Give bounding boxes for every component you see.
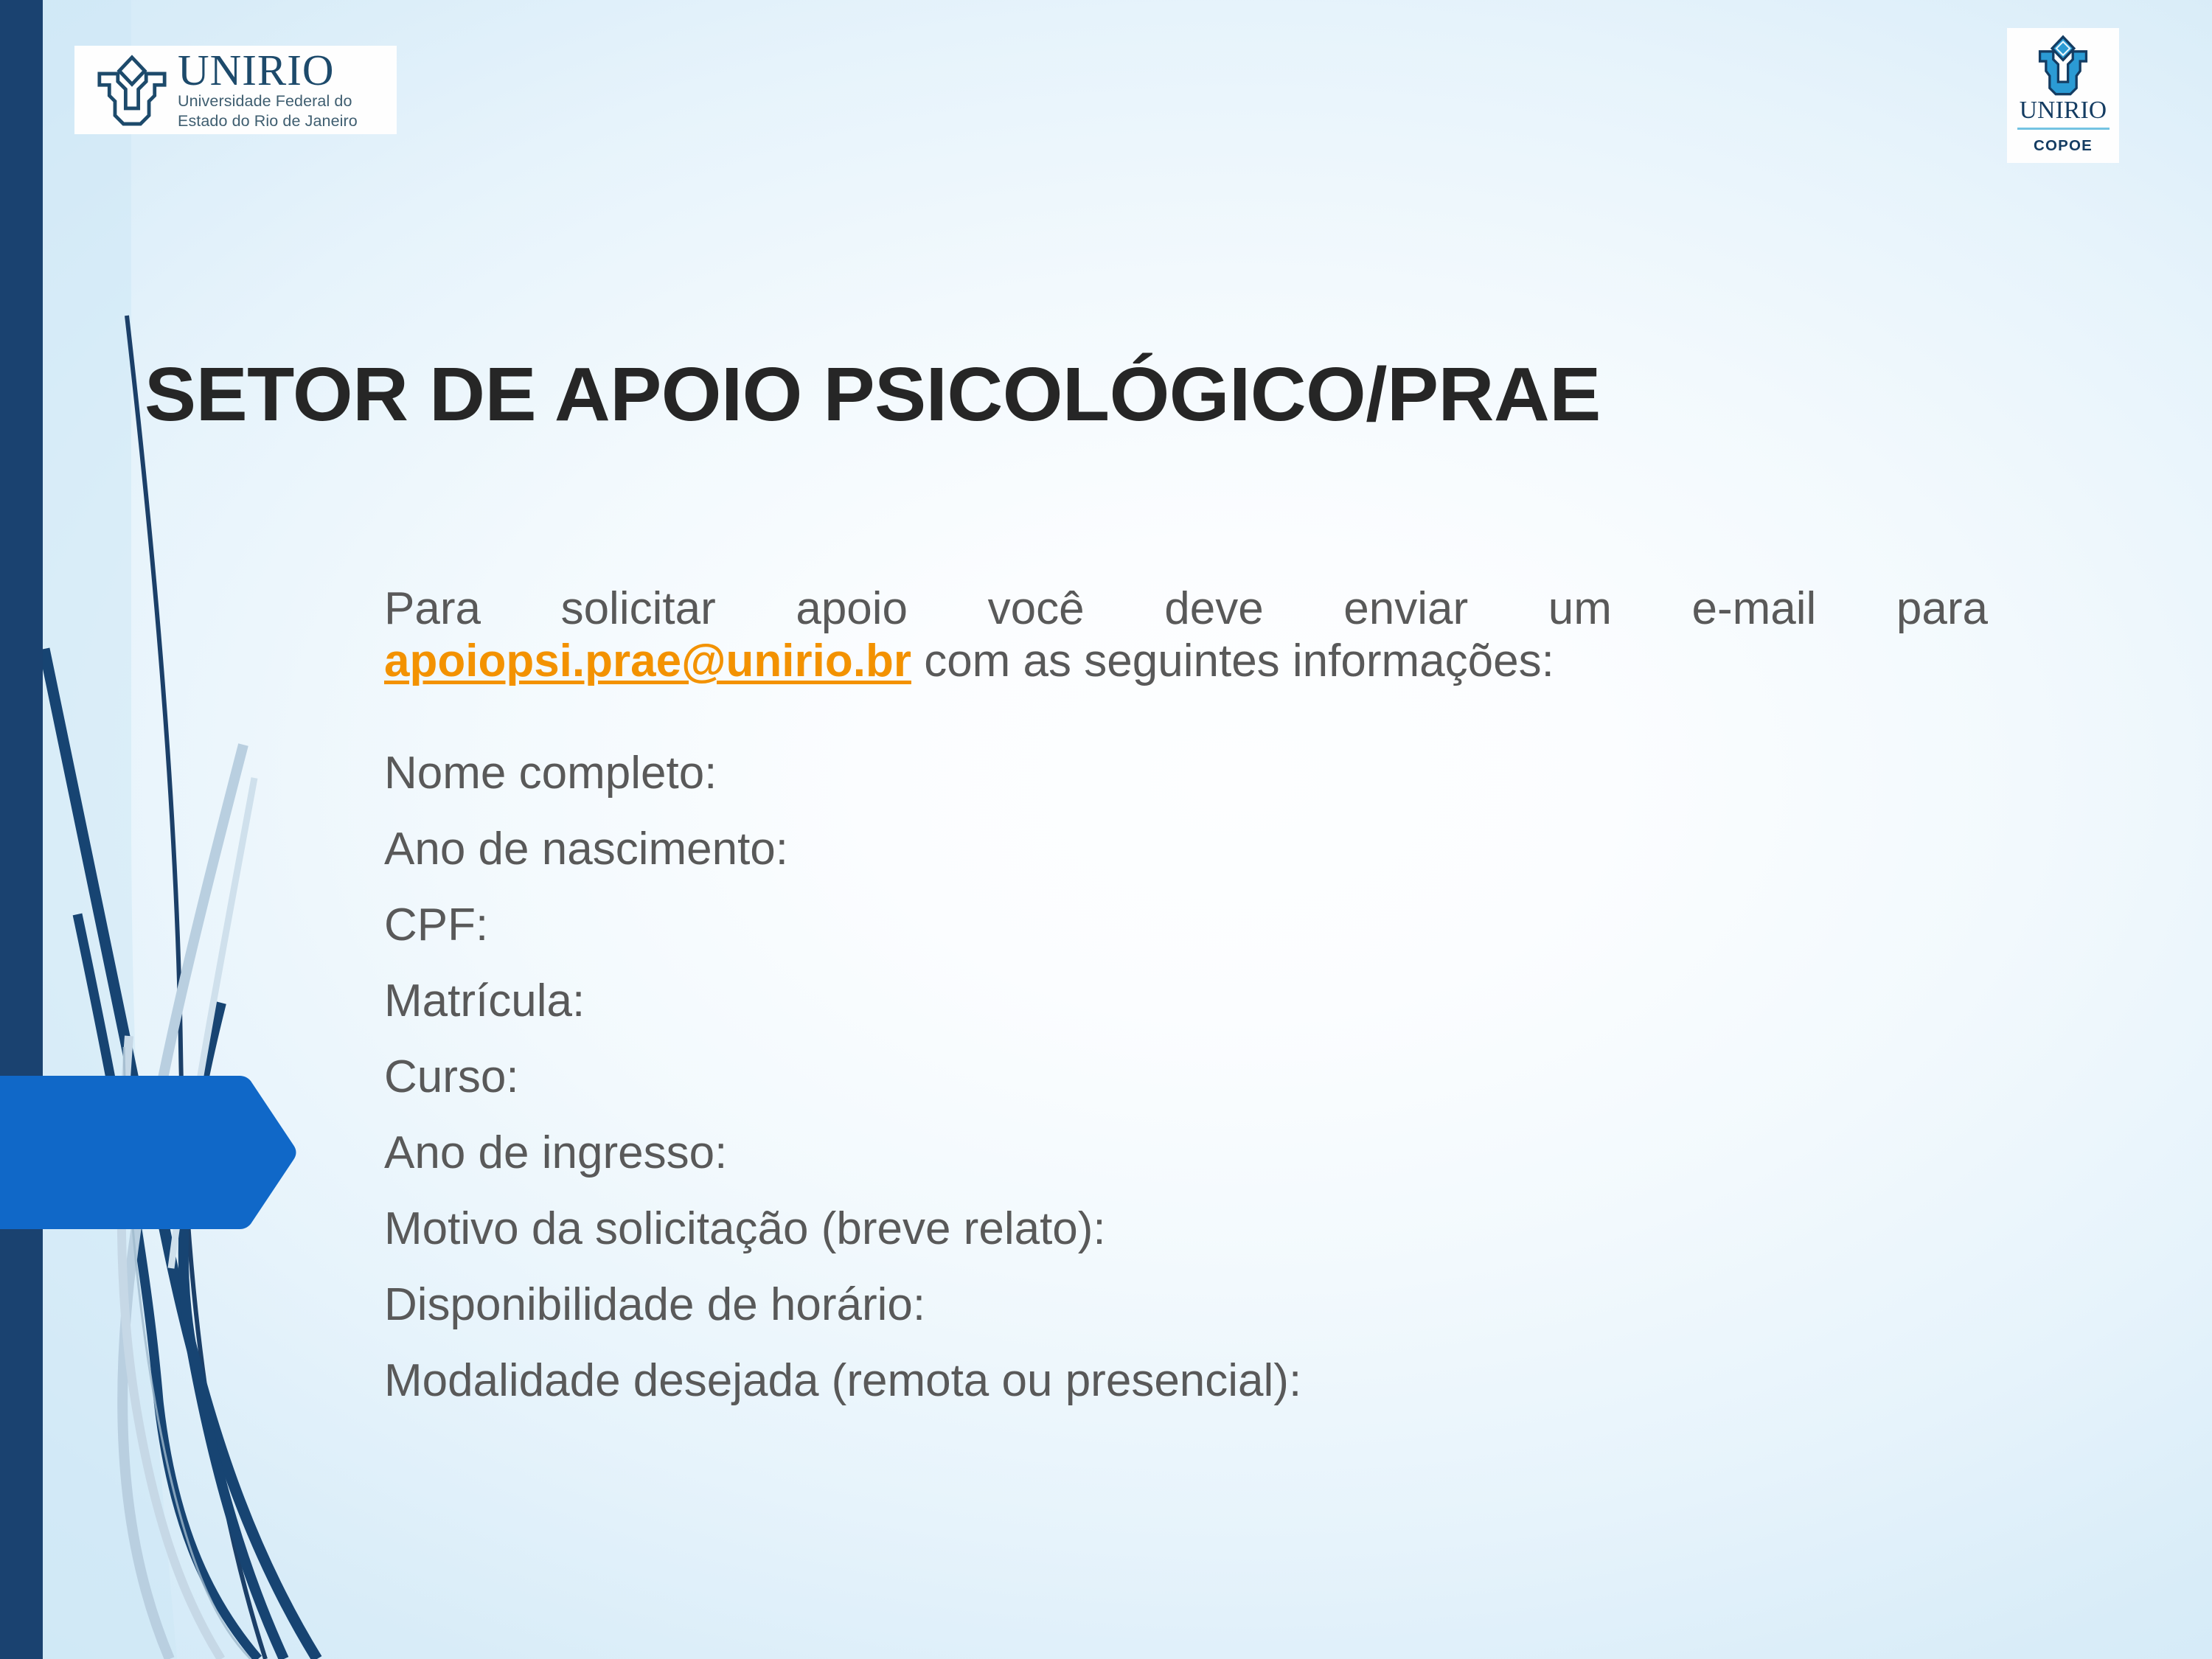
copoe-divider [2017,128,2110,130]
list-item: Motivo da solicitação (breve relato): [384,1206,1988,1252]
list-item: Matrícula: [384,978,1988,1024]
support-email-link[interactable]: apoiopsi.prae@unirio.br [384,636,911,686]
list-item: Curso: [384,1054,1988,1100]
copoe-emblem-icon [2032,33,2094,97]
left-accent-strip [0,0,43,1659]
blue-arrow-banner [0,1071,299,1234]
content-body: Para solicitar apoio você deve enviar um… [384,582,1988,1434]
list-item: Modalidade desejada (remota ou presencia… [384,1358,1988,1404]
list-item: Nome completo: [384,751,1988,796]
instruction-paragraph: Para solicitar apoio você deve enviar um… [384,582,1988,688]
copoe-wordmark: UNIRIO [2020,98,2107,123]
unirio-emblem-icon [97,53,167,127]
unirio-wordmark: UNIRIO [178,49,358,91]
page-title: SETOR DE APOIO PSICOLÓGICO/PRAE [145,351,2178,438]
instruction-text-before: Para solicitar apoio você deve enviar um… [384,583,1988,634]
required-fields-list: Nome completo: Ano de nascimento: CPF: M… [384,751,1988,1404]
list-item: Disponibilidade de horário: [384,1282,1988,1328]
unirio-copoe-logo: UNIRIO COPOE [2007,28,2119,163]
list-item: CPF: [384,902,1988,948]
copoe-unit-label: COPOE [2034,137,2093,155]
unirio-subtitle-line1: Universidade Federal do [178,92,358,111]
slide-canvas: UNIRIO Universidade Federal do Estado do… [0,0,2212,1659]
unirio-subtitle-line2: Estado do Rio de Janeiro [178,112,358,131]
list-item: Ano de nascimento: [384,827,1988,872]
instruction-text-after: com as seguintes informações: [924,636,1554,686]
list-item: Ano de ingresso: [384,1130,1988,1176]
unirio-logo: UNIRIO Universidade Federal do Estado do… [74,46,397,134]
